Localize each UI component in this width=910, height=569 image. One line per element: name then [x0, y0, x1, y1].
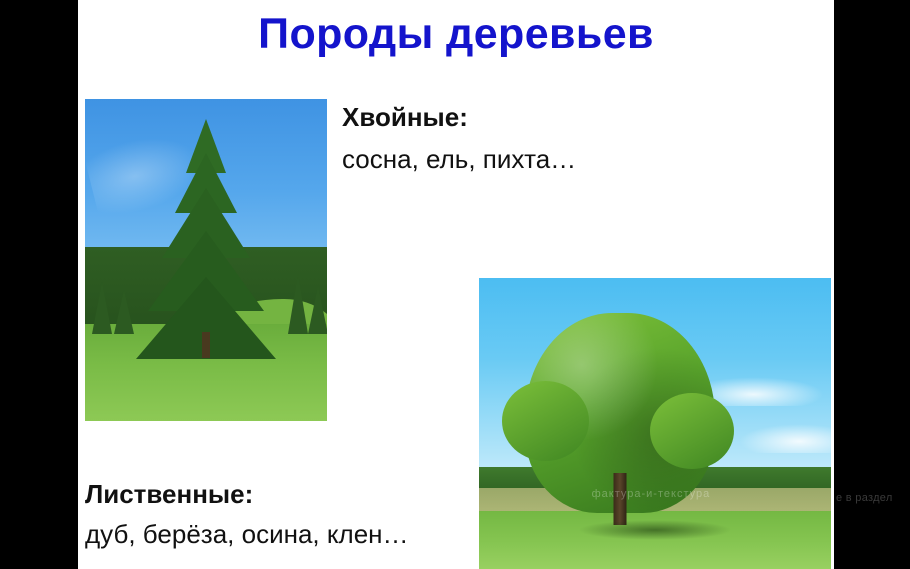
- conifer-heading: Хвойные:: [342, 100, 782, 135]
- deciduous-photo: фактура-и-текстура: [479, 278, 831, 569]
- conifer-background-tree: [308, 286, 327, 334]
- conifer-text-block: Хвойные: сосна, ель, пихта…: [342, 100, 782, 179]
- letterbox-bar-left: [0, 0, 78, 569]
- overlay-caption: е в раздел: [836, 492, 893, 504]
- conifer-background-tree: [114, 290, 134, 334]
- conifer-photo: [85, 99, 327, 421]
- slide-title: Породы деревьев: [78, 10, 834, 59]
- conifer-trunk: [202, 332, 210, 358]
- presentation-slide: Породы деревьев Хвойные:: [78, 0, 834, 569]
- deciduous-tree-shadow: [578, 520, 733, 540]
- letterbox-bar-right: [834, 0, 910, 569]
- slide-viewer: Породы деревьев Хвойные:: [0, 0, 910, 569]
- deciduous-cloud: [739, 424, 831, 453]
- deciduous-species-list: дуб, берёза, осина, клен…: [85, 516, 475, 552]
- conifer-spruce-tree: [133, 123, 279, 373]
- conifer-background-tree: [288, 274, 308, 334]
- deciduous-heading: Лиственные:: [85, 478, 475, 512]
- conifer-background-tree: [92, 282, 112, 334]
- deciduous-text-block: Лиственные: дуб, берёза, осина, клен…: [85, 478, 475, 552]
- conifer-species-list: сосна, ель, пихта…: [342, 141, 782, 179]
- deciduous-trunk: [613, 473, 626, 525]
